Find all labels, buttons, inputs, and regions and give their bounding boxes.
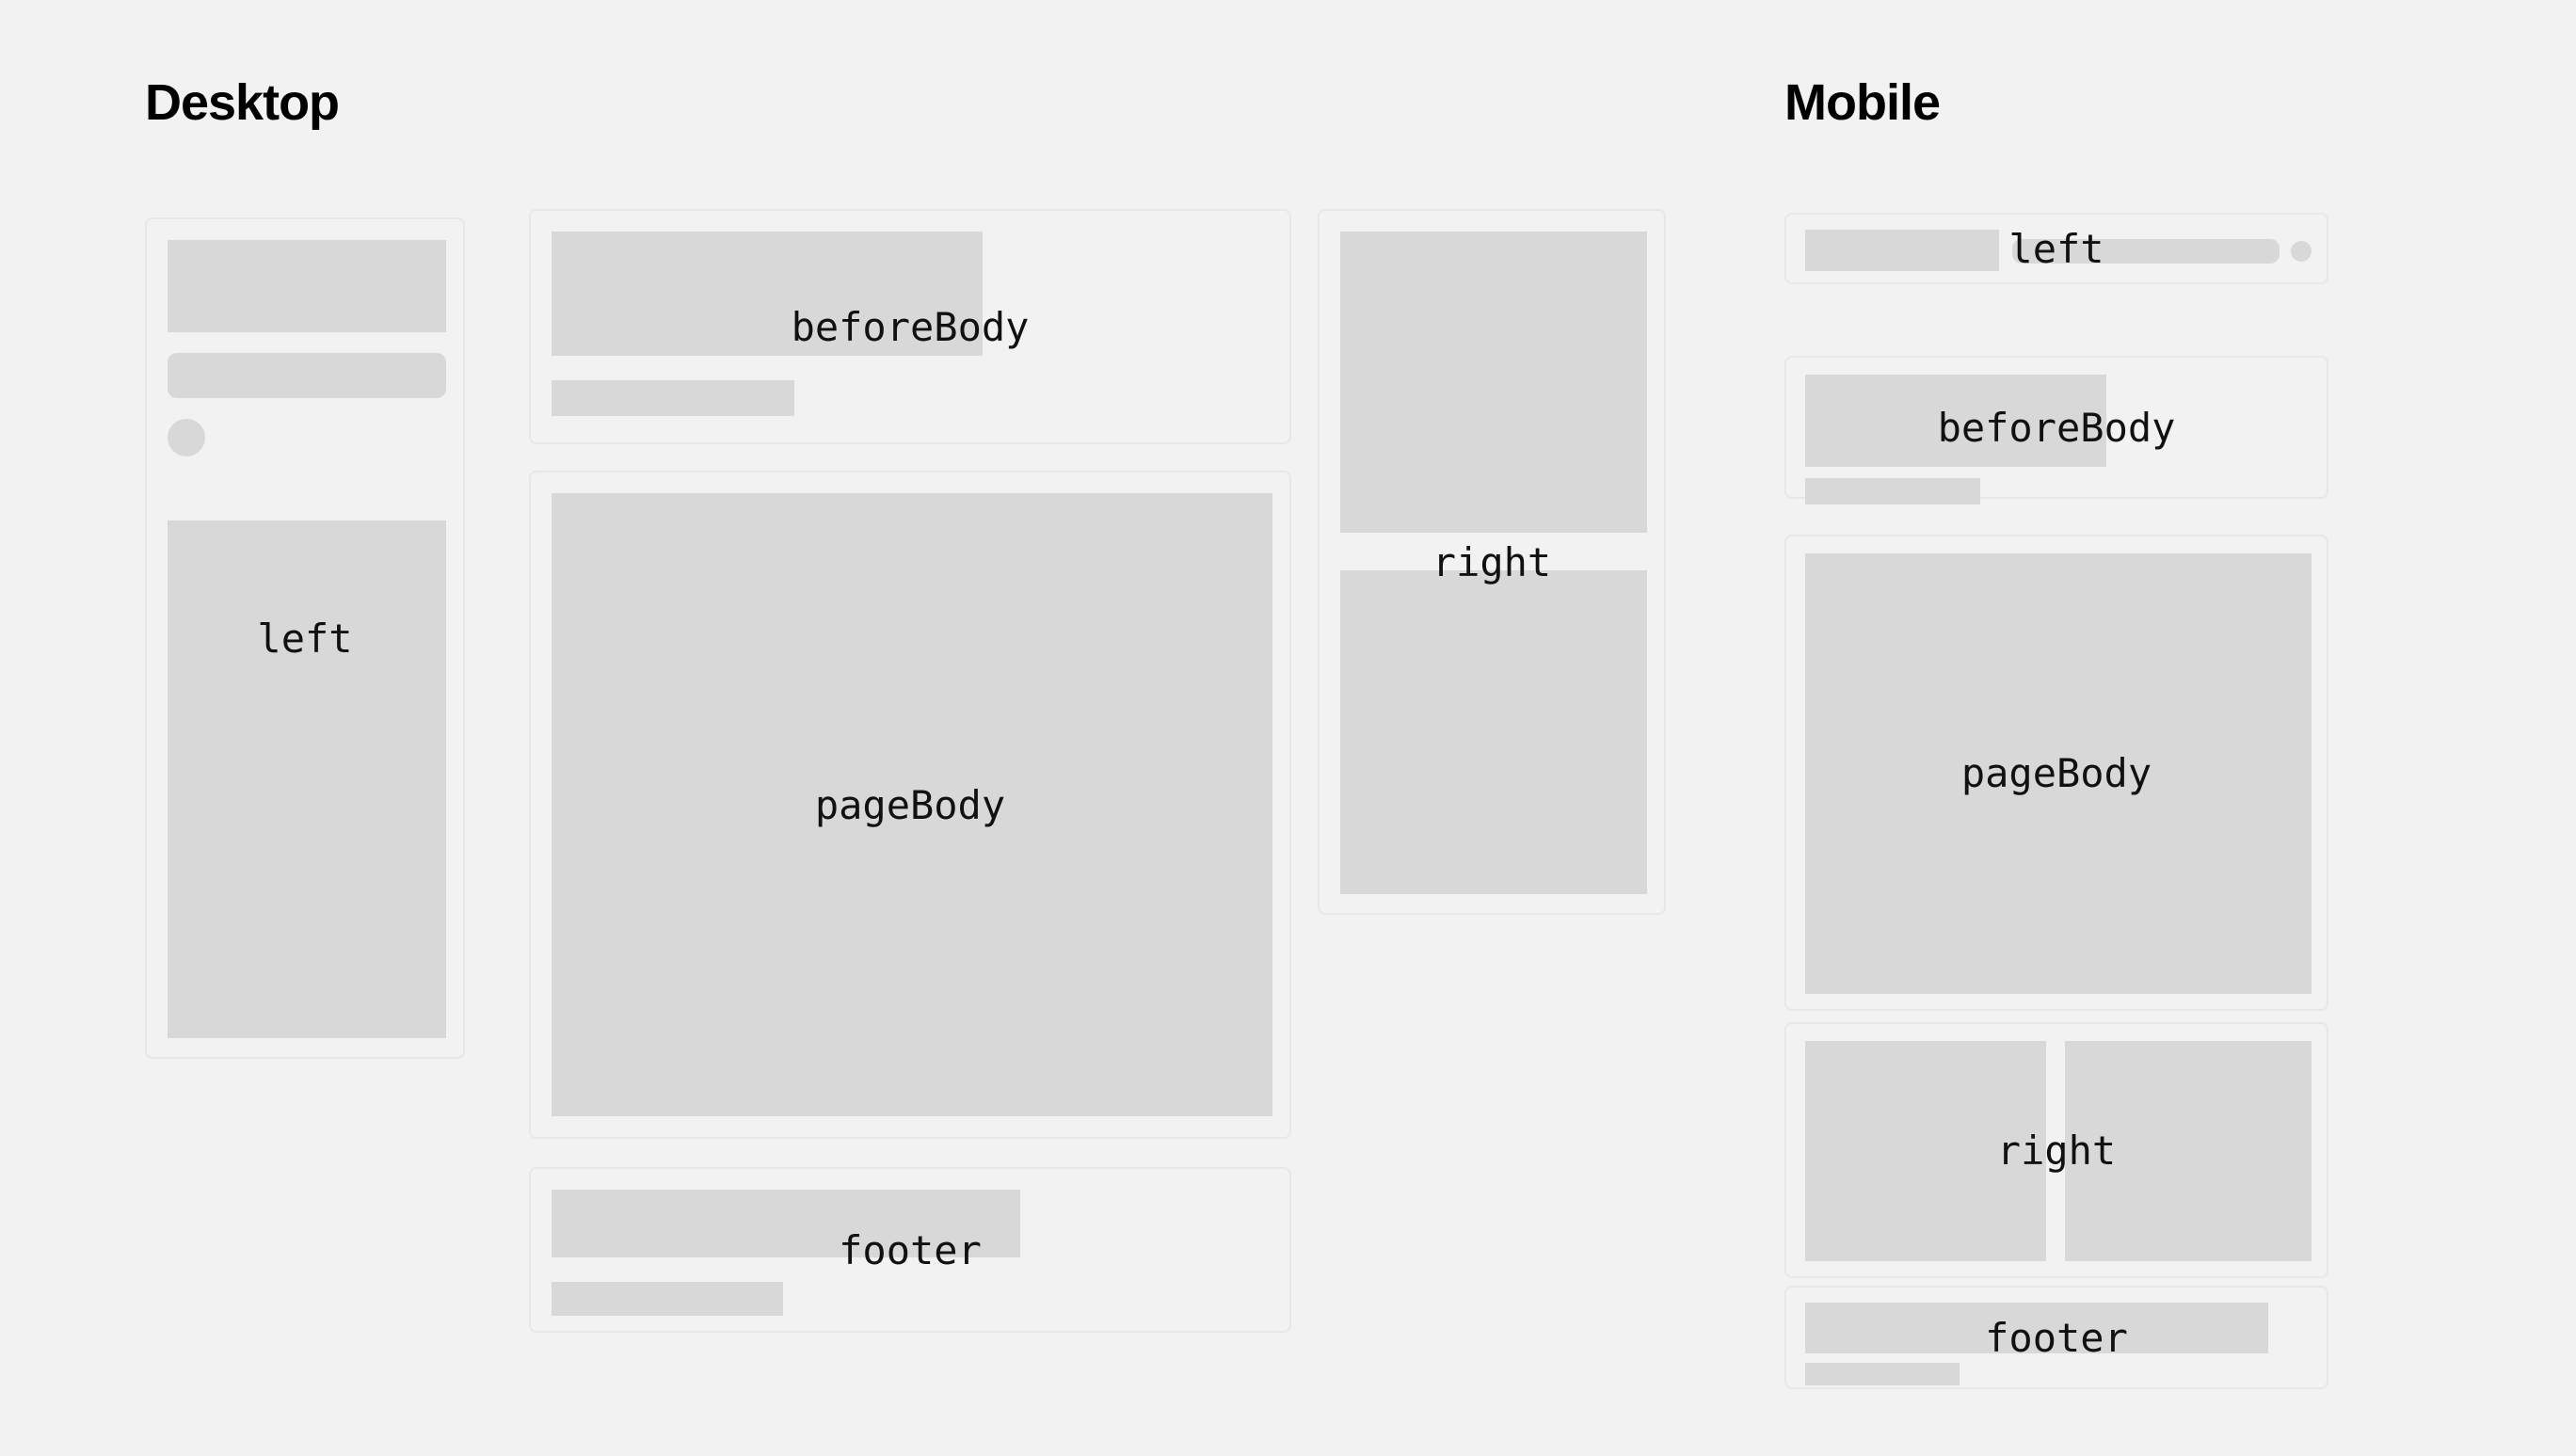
desktop-right-widget-block-top xyxy=(1340,232,1647,533)
mobile-left-inner xyxy=(1786,215,2327,282)
mobile-panel-pagebody[interactable]: pageBody xyxy=(1784,535,2328,1011)
desktop-left-search-bar-block xyxy=(168,353,446,398)
desktop-footer-bar-block xyxy=(552,1190,1020,1257)
mobile-left-header-block xyxy=(1805,230,1999,271)
desktop-pagebody-inner xyxy=(531,472,1289,1137)
desktop-right-inner xyxy=(1320,211,1664,913)
desktop-footer-meta-block xyxy=(552,1282,783,1316)
mobile-pagebody-inner xyxy=(1786,536,2327,1009)
mobile-pagebody-content-block xyxy=(1805,553,2312,994)
desktop-beforebody-banner-block xyxy=(552,232,983,356)
mobile-right-widget-block-right xyxy=(2065,1041,2312,1261)
desktop-left-header-block xyxy=(168,240,446,332)
desktop-panel-right[interactable]: right xyxy=(1318,209,1666,915)
mobile-panel-right[interactable]: right xyxy=(1784,1022,2328,1278)
desktop-right-widget-block-bottom xyxy=(1340,570,1647,894)
mobile-right-inner xyxy=(1786,1024,2327,1276)
mobile-footer-inner xyxy=(1786,1288,2327,1387)
mobile-left-avatar-dot xyxy=(2291,241,2312,262)
desktop-panel-left[interactable]: left xyxy=(145,217,465,1059)
mobile-panel-left[interactable]: left xyxy=(1784,213,2328,284)
desktop-section-heading: Desktop xyxy=(145,77,339,128)
mobile-panel-footer[interactable]: footer xyxy=(1784,1286,2328,1389)
desktop-pagebody-content-block xyxy=(552,493,1272,1116)
mobile-right-widget-block-left xyxy=(1805,1041,2046,1261)
desktop-left-avatar-dot xyxy=(168,419,205,456)
mobile-footer-bar-block xyxy=(1805,1303,2268,1353)
desktop-panel-beforebody[interactable]: beforeBody xyxy=(529,209,1291,444)
mobile-footer-meta-block xyxy=(1805,1363,1960,1385)
mobile-panel-beforebody[interactable]: beforeBody xyxy=(1784,356,2328,499)
desktop-left-nav-block xyxy=(168,520,446,1038)
mobile-section-heading: Mobile xyxy=(1784,77,1940,128)
desktop-panel-footer[interactable]: footer xyxy=(529,1167,1291,1333)
mobile-left-search-bar-block xyxy=(2012,239,2280,264)
mobile-beforebody-subtitle-block xyxy=(1805,478,1980,504)
desktop-footer-inner xyxy=(531,1169,1289,1331)
mobile-beforebody-banner-block xyxy=(1805,375,2106,467)
responsive-layout-preview: Desktop left beforeBody pageBody right xyxy=(0,0,2576,1456)
desktop-panel-pagebody[interactable]: pageBody xyxy=(529,471,1291,1139)
mobile-beforebody-inner xyxy=(1786,358,2327,497)
desktop-beforebody-inner xyxy=(531,211,1289,442)
desktop-left-inner xyxy=(147,219,463,1057)
desktop-beforebody-subtitle-block xyxy=(552,380,794,416)
